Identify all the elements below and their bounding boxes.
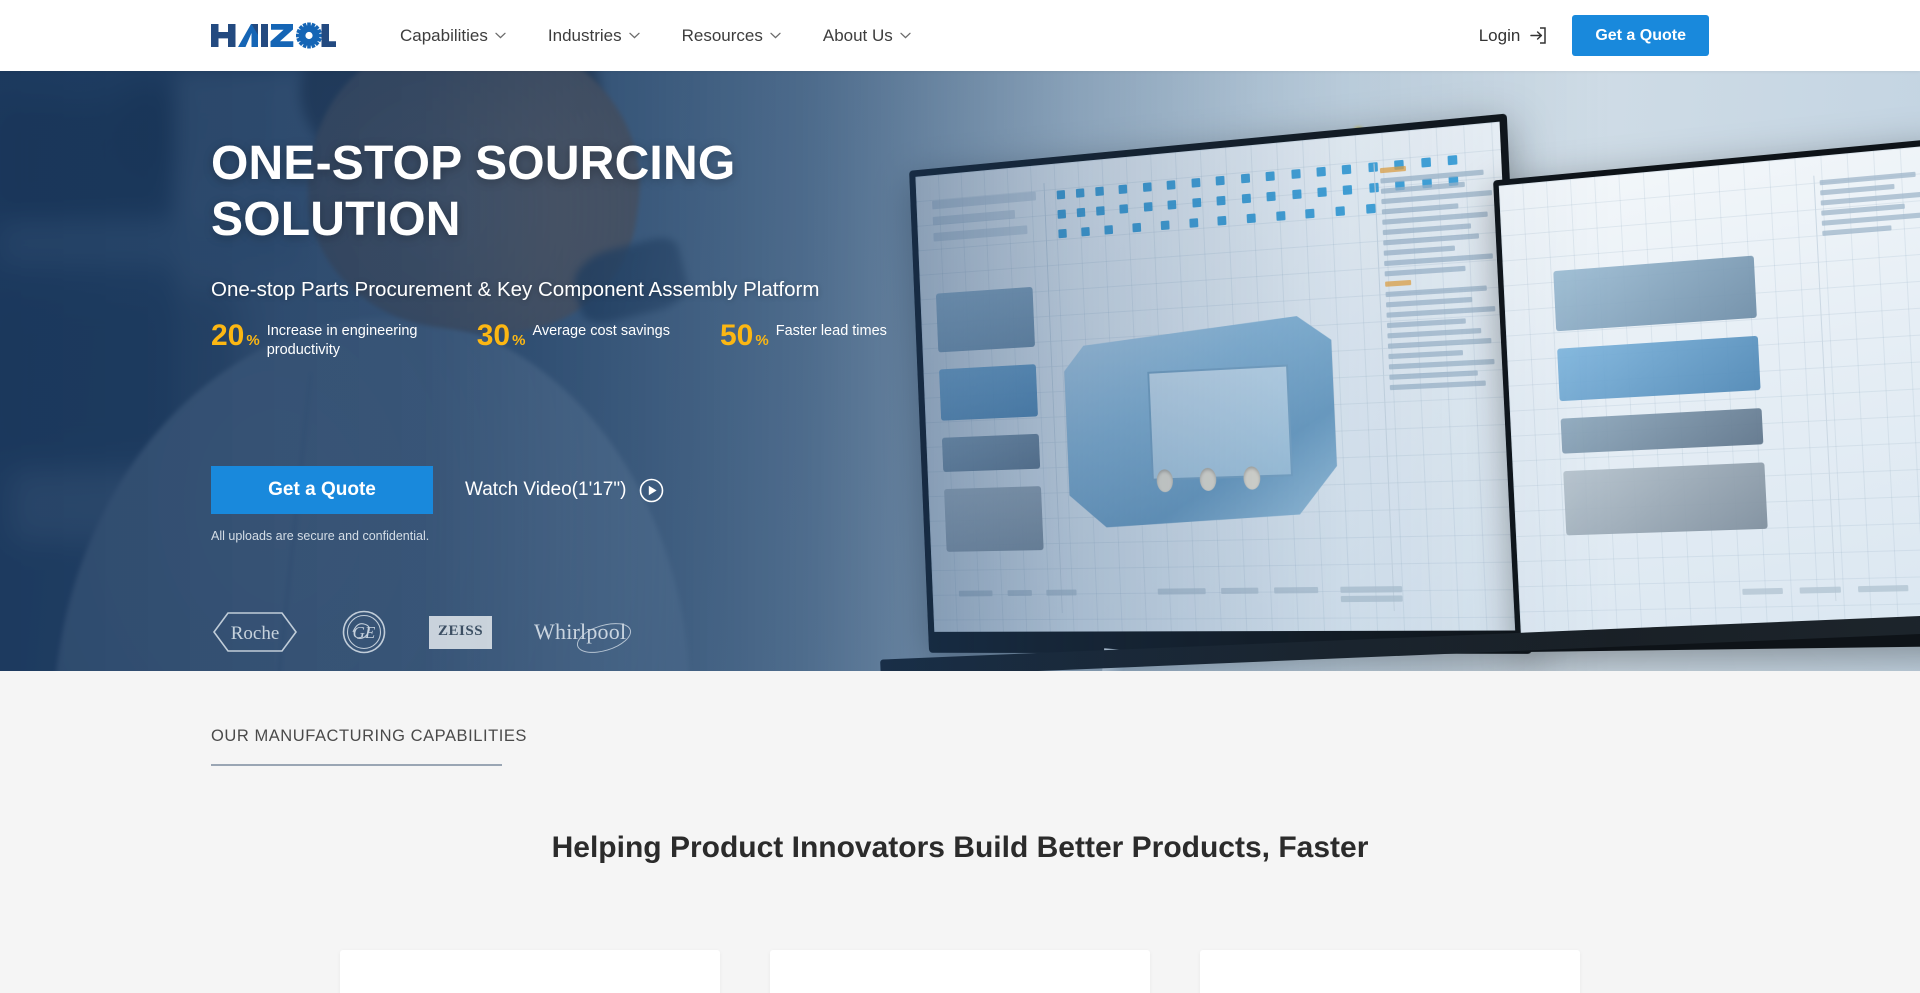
haizol-logo[interactable] [211,0,336,71]
chevron-down-icon [629,32,640,39]
whirlpool-wordmark: Whirlpool [534,619,626,645]
capabilities-section: OUR MANUFACTURING CAPABILITIES Helping P… [0,671,1920,993]
eyebrow-underline [211,764,502,766]
nav-label: Capabilities [400,0,488,71]
header-get-a-quote-button[interactable]: Get a Quote [1572,15,1709,56]
capabilities-eyebrow: OUR MANUFACTURING CAPABILITIES [211,671,527,746]
capability-card-grid [211,950,1709,993]
hero-get-a-quote-button[interactable]: Get a Quote [211,466,433,514]
stat-unit: % [246,333,259,348]
roche-logo: Roche [211,606,299,658]
capability-card[interactable] [1200,950,1580,993]
client-logos: Roche GE ZEISS Whirlpool [211,606,626,658]
svg-text:GE: GE [353,623,376,642]
hero-cta-row: Get a Quote Watch Video(1'17") [211,466,664,514]
hero-section: ONE-STOP SOURCING SOLUTION One-stop Part… [0,71,1920,671]
watch-video-link[interactable]: Watch Video(1'17") [465,478,664,503]
capabilities-heading: Helping Product Innovators Build Better … [211,831,1709,865]
hero-stats: 20 % Increase in engineering productivit… [211,321,887,360]
stat-number: 30 [477,321,510,351]
stat-item: 20 % Increase in engineering productivit… [211,321,427,360]
stat-value: 50 % [720,321,769,351]
svg-text:Roche: Roche [231,623,280,644]
nav-item-about-us[interactable]: About Us [802,0,932,71]
page-root: Capabilities Industries Resources [0,0,1920,993]
nav-label: Resources [682,0,763,71]
chevron-down-icon [770,32,781,39]
stat-label: Faster lead times [776,321,887,341]
stat-label: Average cost savings [532,321,670,341]
stat-value: 30 % [477,321,526,351]
primary-nav: Capabilities Industries Resources [379,0,932,71]
ge-logo: GE [341,606,387,658]
login-arrow-icon [1528,26,1547,45]
site-header: Capabilities Industries Resources [0,0,1920,71]
zeiss-wordmark: ZEISS [429,616,492,649]
header-actions: Login Get a Quote [1479,15,1709,56]
capability-card[interactable] [770,950,1150,993]
capability-card[interactable] [340,950,720,993]
whirlpool-logo: Whirlpool [534,606,626,658]
gear-icon [296,23,322,49]
upload-security-note: All uploads are secure and confidential. [211,529,429,543]
hero-subtitle: One-stop Parts Procurement & Key Compone… [211,278,819,302]
login-label: Login [1479,26,1521,46]
stat-item: 50 % Faster lead times [720,321,887,351]
login-link[interactable]: Login [1479,26,1548,46]
hero-title: ONE-STOP SOURCING SOLUTION [211,136,851,248]
chevron-down-icon [495,32,506,39]
nav-item-capabilities[interactable]: Capabilities [379,0,527,71]
nav-label: About Us [823,0,893,71]
hero-content: ONE-STOP SOURCING SOLUTION One-stop Part… [192,71,1728,671]
stat-label: Increase in engineering productivity [267,321,427,360]
nav-label: Industries [548,0,622,71]
play-circle-icon [639,478,664,503]
stat-value: 20 % [211,321,260,351]
stat-unit: % [512,333,525,348]
nav-item-industries[interactable]: Industries [527,0,661,71]
nav-item-resources[interactable]: Resources [661,0,802,71]
haizol-logo-mark [211,22,336,49]
stat-number: 50 [720,321,753,351]
capabilities-inner: OUR MANUFACTURING CAPABILITIES Helping P… [192,671,1728,993]
stat-item: 30 % Average cost savings [477,321,670,351]
stat-number: 20 [211,321,244,351]
chevron-down-icon [900,32,911,39]
zeiss-logo: ZEISS [429,606,492,658]
stat-unit: % [755,333,768,348]
header-inner: Capabilities Industries Resources [192,0,1728,71]
watch-video-label: Watch Video(1'17") [465,479,626,501]
